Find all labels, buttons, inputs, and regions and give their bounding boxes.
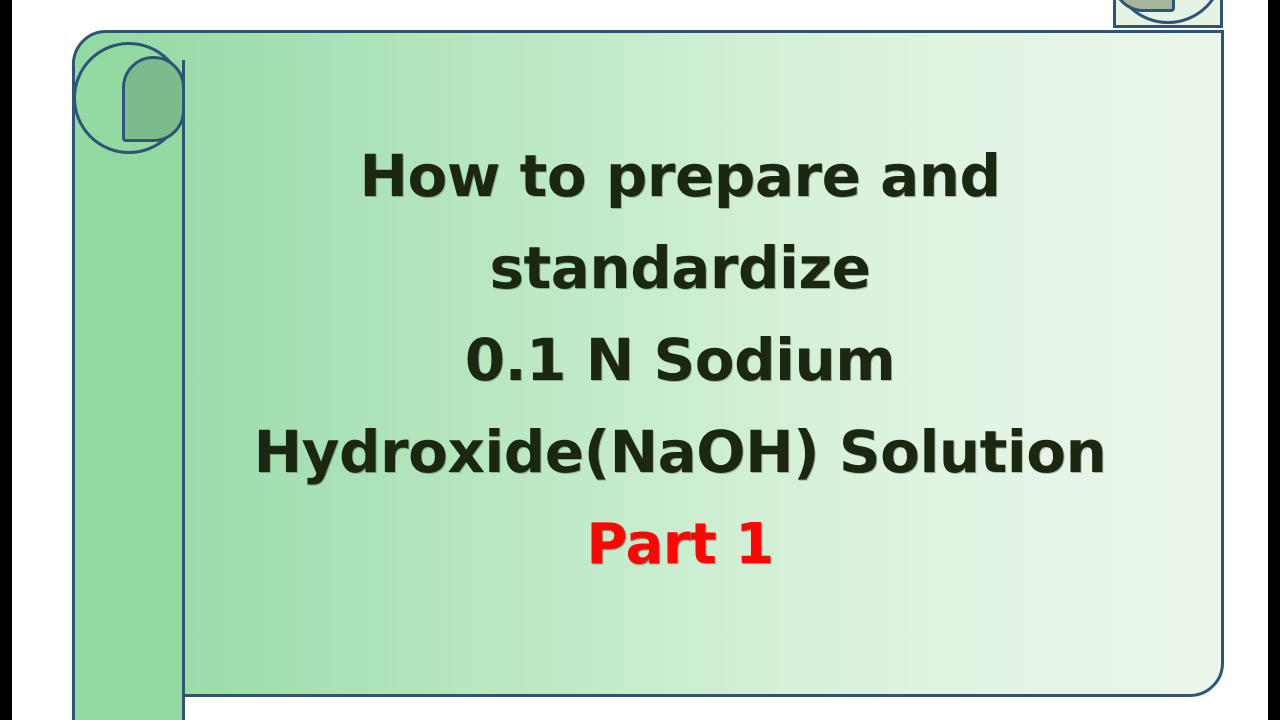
letterbox-bar-left xyxy=(0,0,12,720)
scroll-banner-graphic xyxy=(0,0,1280,720)
letterbox-bar-right xyxy=(1268,0,1280,720)
scroll-curl-left-teardrop xyxy=(122,56,185,142)
scroll-sheet xyxy=(72,30,1224,697)
title-slide: How to prepare and standardize 0.1 N Sod… xyxy=(0,0,1280,720)
scroll-curl-left-strip xyxy=(72,60,185,720)
